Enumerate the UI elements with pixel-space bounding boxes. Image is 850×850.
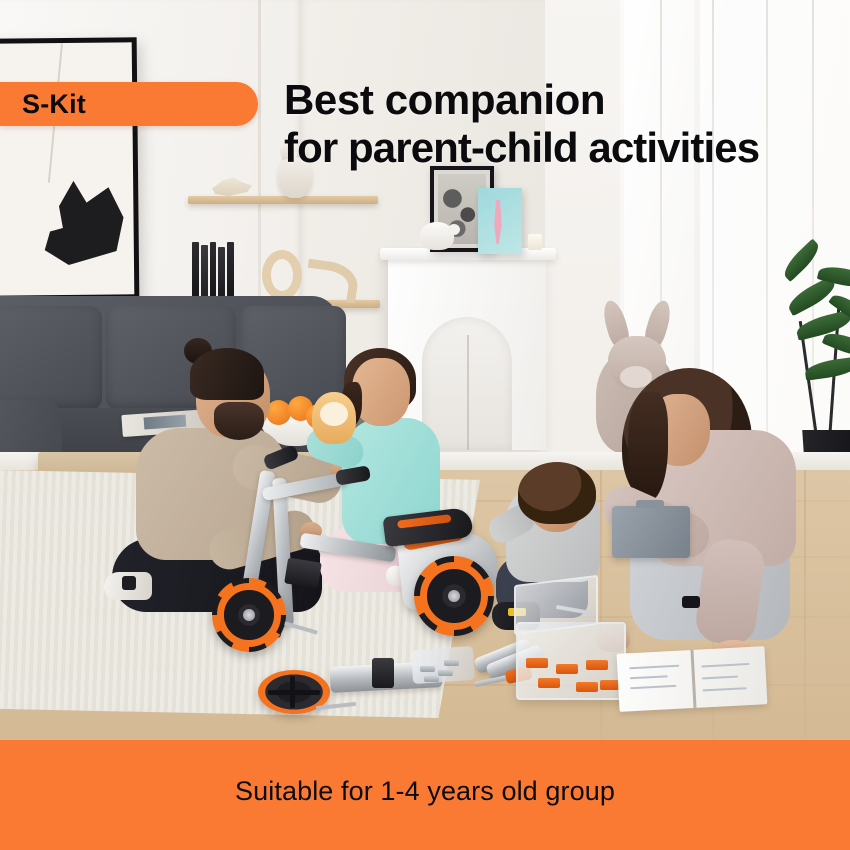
lion-plush-toy	[312, 392, 356, 444]
headline-line-2: for parent-child activities	[284, 124, 844, 172]
headline: Best companion for parent-child activiti…	[284, 76, 844, 172]
books-stack	[192, 242, 234, 300]
bike-frame-clamp	[284, 558, 322, 589]
bottom-banner: Suitable for 1-4 years old group	[0, 740, 850, 850]
bolt	[424, 676, 439, 682]
floor-seam-line	[600, 470, 602, 745]
father-beard	[214, 402, 264, 440]
teal-artwork	[478, 188, 522, 254]
product-badge-label: S-Kit	[22, 89, 236, 120]
metal-toolbox	[612, 506, 690, 558]
sofa-cushion	[0, 306, 102, 410]
candle	[528, 234, 542, 250]
bolt	[420, 666, 435, 672]
organizer-lid	[514, 575, 598, 635]
manual-diagram-line	[703, 687, 747, 691]
manual-spine	[690, 650, 696, 708]
framed-abstract-art	[0, 37, 139, 301]
lamb-figurine	[420, 222, 454, 250]
wheel-spoke	[290, 676, 295, 708]
mother-hair-front	[628, 392, 668, 502]
product-badge: S-Kit	[0, 82, 258, 126]
manual-diagram-line	[630, 685, 676, 689]
organizer-part	[576, 682, 598, 692]
floor-seam-line	[804, 470, 806, 745]
mantel-arch	[422, 317, 512, 450]
father-hair	[190, 348, 264, 400]
tube-connector	[372, 658, 394, 688]
manual-diagram-line	[701, 663, 749, 668]
manual-diagram-line	[630, 675, 668, 679]
father-shoe	[104, 572, 152, 600]
headline-line-1: Best companion	[284, 76, 844, 124]
instruction-manual	[617, 646, 768, 712]
wristwatch	[682, 596, 700, 608]
organizer-part	[526, 658, 548, 668]
floating-shelf	[188, 196, 378, 204]
organizer-part	[556, 664, 578, 674]
bolt-bag	[411, 646, 475, 684]
bottom-banner-text: Suitable for 1-4 years old group	[235, 776, 615, 807]
product-marketing-poster: S-Kit Best companion for parent-child ac…	[0, 0, 850, 850]
bolt	[438, 670, 453, 676]
wooden-ring-sculpture	[262, 250, 302, 300]
art-detail	[31, 180, 124, 265]
parts-organizer-box	[516, 622, 626, 700]
organizer-part	[538, 678, 560, 688]
bike-rear-wheel	[414, 556, 494, 636]
bike-front-wheel	[212, 578, 286, 652]
manual-diagram-line	[629, 665, 679, 670]
manual-diagram-line	[702, 676, 738, 680]
organizer-part	[586, 660, 608, 670]
boy-hair	[518, 462, 596, 524]
bolt	[444, 660, 459, 666]
